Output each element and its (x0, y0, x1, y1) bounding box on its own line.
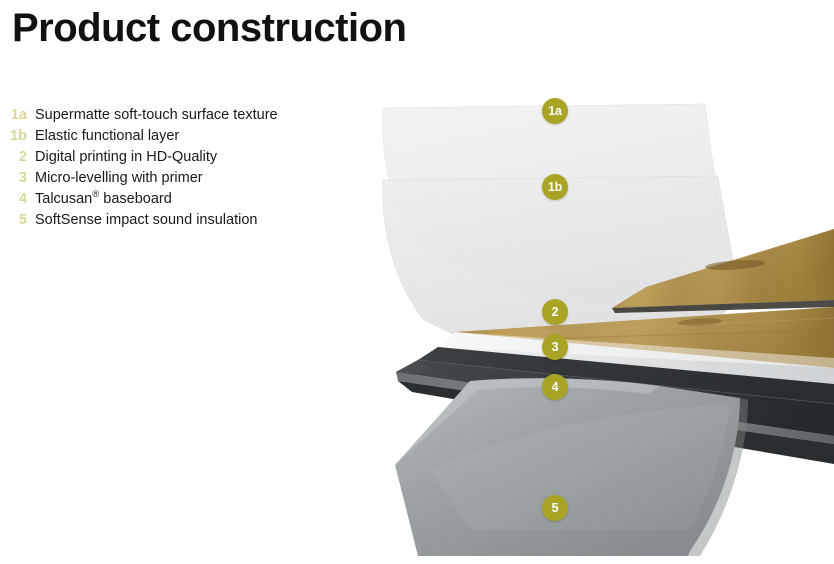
legend-item-5: 5 SoftSense impact sound insulation (0, 210, 340, 231)
legend-label-2: Digital printing in HD-Quality (35, 147, 217, 168)
legend-label-1a: Supermatte soft-touch surface texture (35, 105, 278, 126)
legend-key-2: 2 (0, 147, 27, 168)
page-title: Product construction (12, 6, 406, 51)
legend-label-4-text: Talcusan (35, 191, 92, 207)
legend-item-3: 3 Micro-levelling with primer (0, 168, 340, 189)
layer-stack-diagram (0, 0, 834, 564)
legend-key-5: 5 (0, 210, 27, 231)
badge-3[interactable]: 3 (542, 334, 568, 360)
legend-list: 1a Supermatte soft-touch surface texture… (0, 105, 340, 231)
badge-4[interactable]: 4 (542, 374, 568, 400)
legend-key-1a: 1a (0, 105, 27, 126)
badge-2[interactable]: 2 (542, 299, 568, 325)
legend-item-1b: 1b Elastic functional layer (0, 126, 340, 147)
legend-key-3: 3 (0, 168, 27, 189)
legend-label-1b: Elastic functional layer (35, 126, 179, 147)
legend-label-4-tail: baseboard (99, 191, 172, 207)
legend-key-4: 4 (0, 189, 27, 210)
legend-item-1a: 1a Supermatte soft-touch surface texture (0, 105, 340, 126)
legend-item-2: 2 Digital printing in HD-Quality (0, 147, 340, 168)
legend-label-5: SoftSense impact sound insulation (35, 210, 257, 231)
product-construction-page: Product construction 1a Supermatte soft-… (0, 0, 834, 564)
legend-key-1b: 1b (0, 126, 27, 147)
legend-label-4: Talcusan® baseboard (35, 189, 172, 210)
legend-item-4: 4 Talcusan® baseboard (0, 189, 340, 210)
layer-1a-surface-texture (383, 104, 722, 302)
layer-2-digital-printing-decor (455, 229, 834, 368)
layer-5-softsense-insulation (395, 378, 748, 556)
legend-label-3: Micro-levelling with primer (35, 168, 203, 189)
badge-5[interactable]: 5 (542, 495, 568, 521)
layer-4-talcusan-baseboard (396, 347, 834, 464)
badge-1b[interactable]: 1b (542, 174, 568, 200)
layer-3-micro-levelling-primer (438, 332, 834, 384)
badge-1a[interactable]: 1a (542, 98, 568, 124)
